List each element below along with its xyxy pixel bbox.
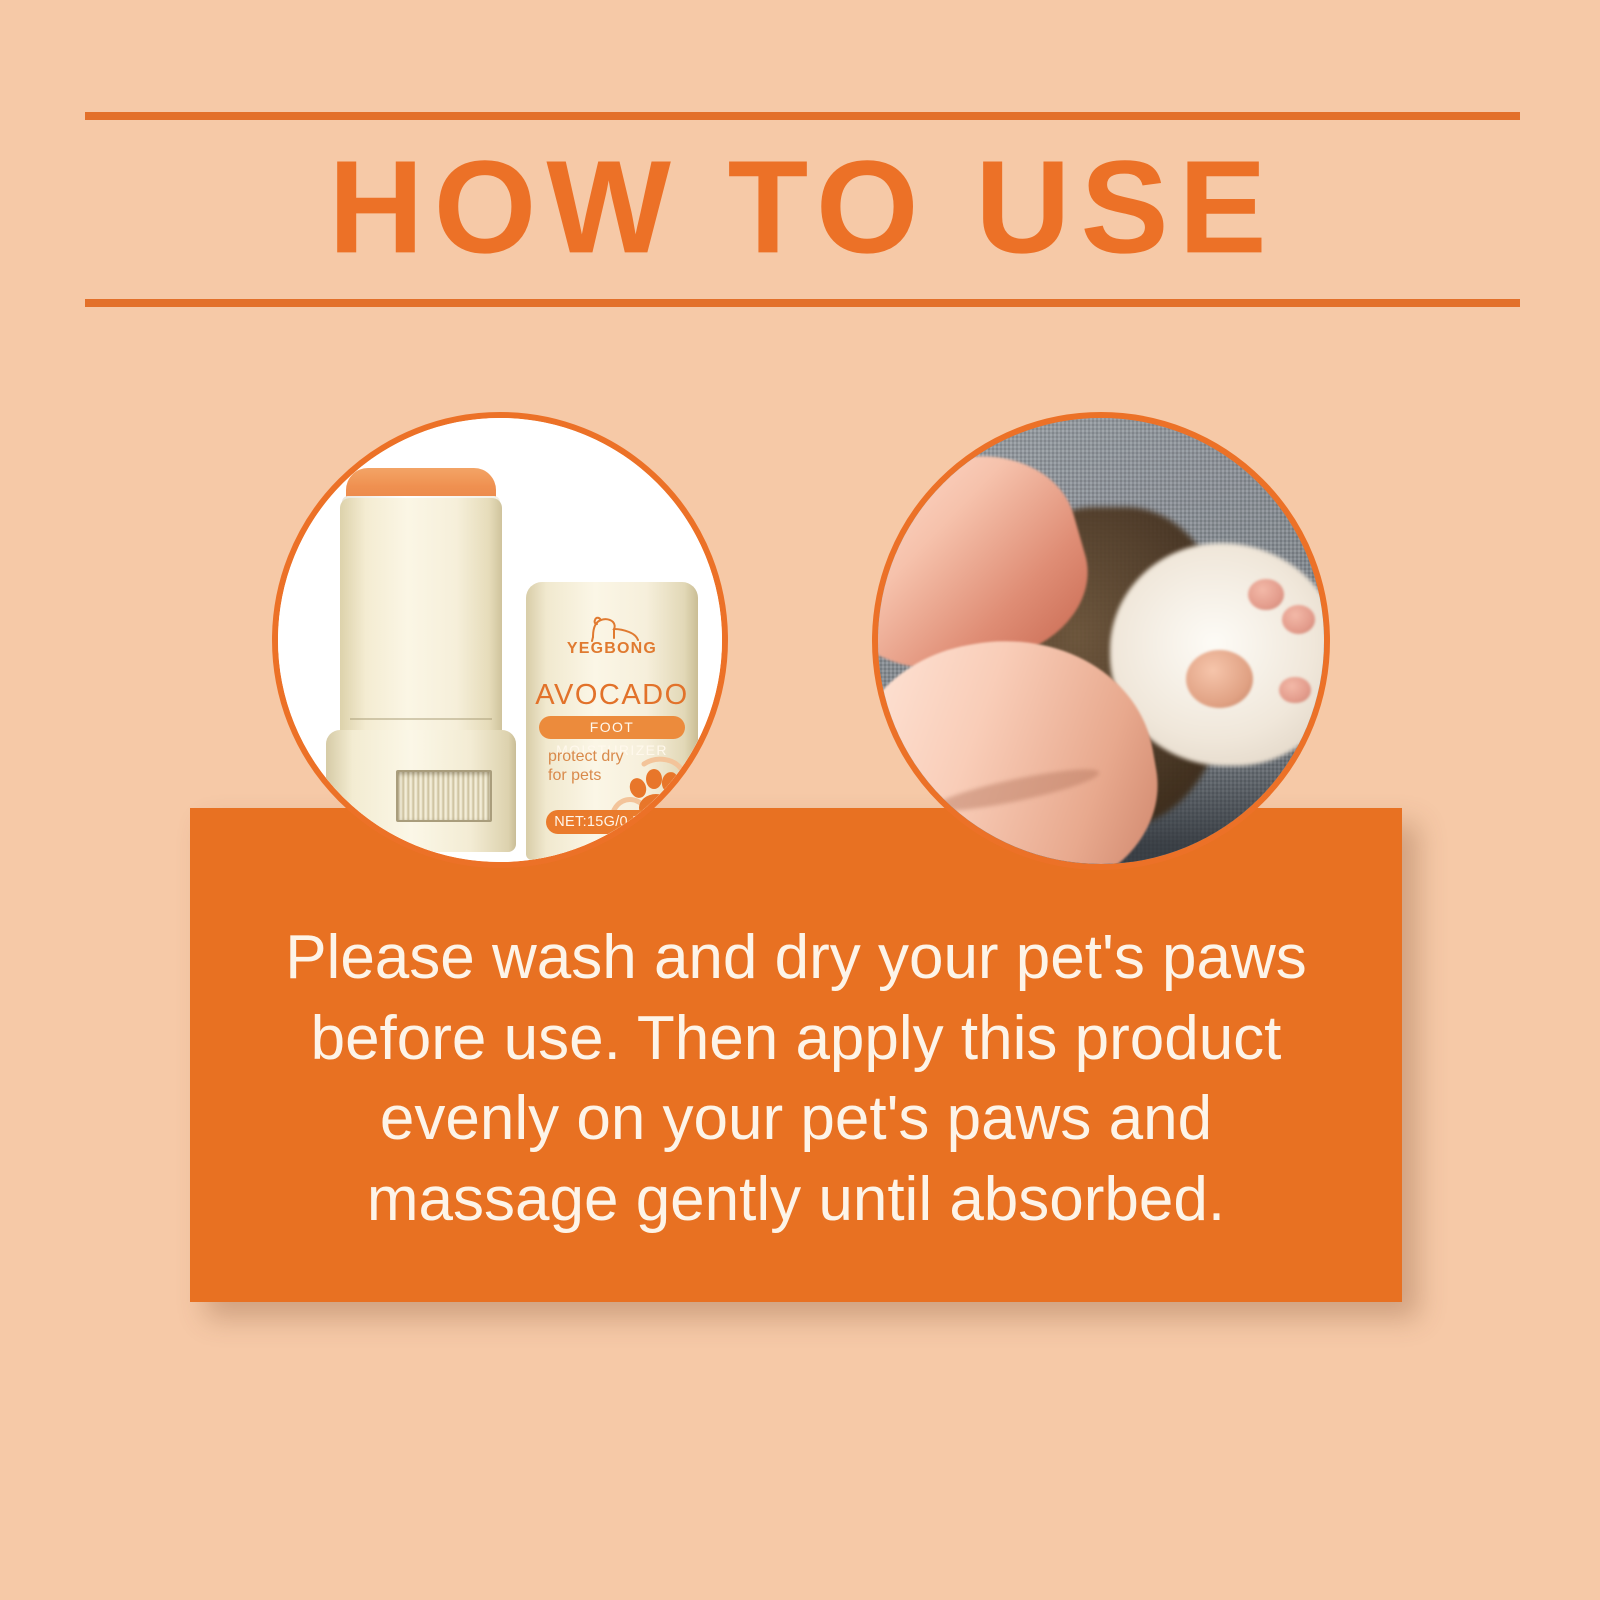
title-rule-bottom: [85, 299, 1520, 307]
cat-toe-pad: [1279, 677, 1310, 704]
product-subtitle-pill: FOOT MOISTURIZER: [539, 716, 685, 739]
instruction-text: Please wash and dry your pet's paws befo…: [250, 918, 1342, 1240]
cat-toe-pad: [1248, 579, 1284, 610]
product-name: AVOCADO: [526, 679, 698, 712]
application-photo: [878, 418, 1324, 864]
application-photo-circle: [872, 412, 1330, 870]
dog-logo-icon: [579, 616, 645, 642]
instruction-panel: Please wash and dry your pet's paws befo…: [190, 808, 1402, 1302]
net-weight-pill: NET:15G/0.53OZ: [546, 810, 678, 834]
stick-seam: [350, 718, 492, 720]
cat-main-pad: [1186, 650, 1253, 708]
title-rule-top: [85, 112, 1520, 120]
page-title-block: HOW TO USE: [85, 112, 1520, 307]
brand-name: YEGBONG: [526, 640, 698, 658]
product-photo-circle: YEGBONG AVOCADO FOOT MOISTURIZER protect…: [272, 412, 728, 868]
page-title: HOW TO USE: [85, 141, 1520, 273]
stick-body: [340, 498, 502, 748]
product-photo: YEGBONG AVOCADO FOOT MOISTURIZER protect…: [278, 418, 722, 862]
product-tube: YEGBONG AVOCADO FOOT MOISTURIZER protect…: [526, 582, 698, 860]
stick-twist-dial: [396, 770, 492, 822]
brand-logo: YEGBONG: [526, 616, 698, 658]
